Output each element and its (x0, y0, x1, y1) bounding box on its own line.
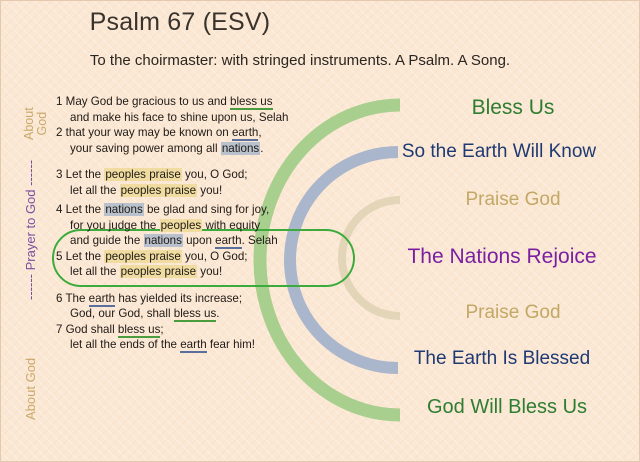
mark-nations: nations (221, 142, 260, 155)
verse-4: 4 Let the nations be glad and sing for j… (56, 202, 346, 249)
mark-nations: nations (104, 203, 143, 216)
chiasm-label-bless-us: Bless Us (398, 96, 628, 120)
text-run: let all the (70, 265, 120, 278)
text-run: upon (183, 234, 215, 247)
verse-7-line-2: let all the ends of the earth fear him! (56, 337, 346, 353)
verse-6-line-2: God, our God, shall bless us. (56, 306, 346, 322)
text-run: 4 Let the (56, 203, 104, 216)
spacer (56, 280, 346, 291)
mark-earth: earth (215, 234, 241, 249)
text-run: God, our God, shall (70, 307, 174, 320)
scripture-text-block: 1 May God be gracious to us and bless us… (56, 94, 346, 353)
text-run: . (260, 142, 263, 155)
text-run: 3 Let the (56, 168, 104, 181)
chiasm-label-god-will-bless-us: God Will Bless Us (382, 396, 632, 419)
verse-5: 5 Let the peoples praise you, O God; let… (56, 249, 346, 280)
verse-6: 6 The earth has yielded its increase; Go… (56, 291, 346, 322)
text-run: you, O God; (182, 168, 248, 181)
text-run: for you judge the (70, 219, 160, 232)
text-run: 2 that your way may be known on (56, 126, 232, 139)
text-run: with equity (202, 219, 260, 232)
verse-1-line-2: and make his face to shine upon us, Sela… (56, 110, 346, 126)
text-run: ; (160, 323, 163, 336)
verse-7: 7 God shall bless us; let all the ends o… (56, 322, 346, 353)
text-run: 7 God shall (56, 323, 118, 336)
side-label-about-god-top: About God (23, 107, 48, 140)
text-run: let all the ends of the (70, 338, 180, 351)
text-run: your saving power among all (70, 142, 221, 155)
side-label-prayer-to-god: ------ Prayer to God ------ (24, 160, 37, 300)
mark-earth: earth (232, 126, 258, 141)
text-run: 1 May God be gracious to us and (56, 95, 230, 108)
page-subtitle: To the choirmaster: with stringed instru… (0, 52, 600, 69)
side-label-about-god-top-line1: About (23, 107, 36, 140)
mark-earth: earth (89, 292, 115, 307)
verse-7-line-1: 7 God shall bless us; (56, 322, 346, 338)
text-run: let all the (70, 184, 120, 197)
mark-bless-us: bless us (118, 323, 161, 338)
text-run: you! (197, 265, 222, 278)
verse-4-line-2: for you judge the peoples with equity (56, 218, 346, 234)
text-run: and guide the (70, 234, 144, 247)
text-run: you! (197, 184, 222, 197)
chiasm-label-praise-god-first: Praise God (398, 189, 628, 211)
text-run: you, O God; (182, 250, 248, 263)
side-label-about-god-bottom: About God (24, 358, 37, 420)
text-run: 6 The (56, 292, 89, 305)
verse-2-line-2: your saving power among all nations. (56, 141, 346, 157)
mark-earth: earth (180, 338, 206, 353)
text-run: , (258, 126, 261, 139)
mark-bless-us: bless us (174, 307, 217, 322)
verse-3-line-2: let all the peoples praise you! (56, 183, 346, 199)
verse-6-line-1: 6 The earth has yielded its increase; (56, 291, 346, 307)
chiasm-label-the-earth-is-blessed: The Earth Is Blessed (366, 348, 638, 370)
mark-bless-us: bless us (230, 95, 273, 110)
spacer (56, 156, 346, 167)
chiasm-label-the-nations-rejoice: The Nations Rejoice (368, 245, 636, 269)
verse-1-line-1: 1 May God be gracious to us and bless us (56, 94, 346, 110)
verse-4-line-1: 4 Let the nations be glad and sing for j… (56, 202, 346, 218)
mark-peoples-praise: peoples praise (104, 250, 181, 263)
text-run: . Selah (242, 234, 278, 247)
verse-3: 3 Let the peoples praise you, O God; let… (56, 167, 346, 198)
mark-nations: nations (144, 234, 183, 247)
text-run: fear him! (207, 338, 255, 351)
text-run: 5 Let the (56, 250, 104, 263)
mark-peoples-praise: peoples praise (120, 184, 197, 197)
page-title: Psalm 67 (ESV) (0, 8, 360, 37)
text-run: be glad and sing for joy, (144, 203, 269, 216)
psalm-chiasm-infographic: Psalm 67 (ESV) To the choirmaster: with … (0, 0, 640, 462)
verse-2: 2 that your way may be known on earth, y… (56, 125, 346, 156)
verse-3-line-1: 3 Let the peoples praise you, O God; (56, 167, 346, 183)
text-run: has yielded its increase; (115, 292, 242, 305)
chiasm-label-praise-god-second: Praise God (398, 302, 628, 324)
verse-5-line-1: 5 Let the peoples praise you, O God; (56, 249, 346, 265)
chiasm-label-so-the-earth-will-know: So the Earth Will Know (358, 141, 640, 163)
mark-peoples: peoples (160, 219, 203, 232)
verse-1: 1 May God be gracious to us and bless us… (56, 94, 346, 125)
side-label-about-god-top-line2: God (36, 107, 49, 140)
verse-5-line-2: let all the peoples praise you! (56, 264, 346, 280)
mark-peoples-praise: peoples praise (104, 168, 181, 181)
text-run: . (216, 307, 219, 320)
mark-peoples-praise: peoples praise (120, 265, 197, 278)
verse-4-line-3: and guide the nations upon earth. Selah (56, 233, 346, 249)
verse-2-line-1: 2 that your way may be known on earth, (56, 125, 346, 141)
